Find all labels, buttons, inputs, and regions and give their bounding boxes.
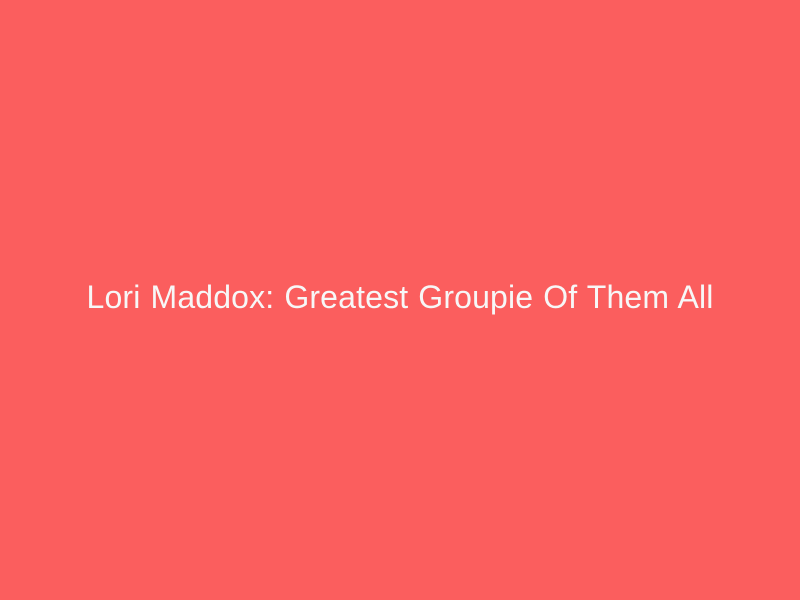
placeholder-canvas: Lori Maddox: Greatest Groupie Of Them Al… bbox=[0, 0, 800, 600]
page-title: Lori Maddox: Greatest Groupie Of Them Al… bbox=[40, 278, 760, 316]
